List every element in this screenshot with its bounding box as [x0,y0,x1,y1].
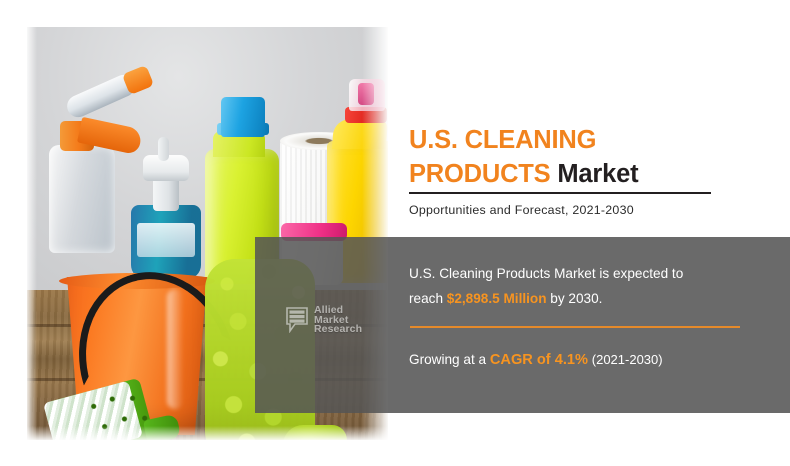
watermark-text: Allied Market Research [314,306,362,335]
watermark-line-3: Research [314,325,362,335]
market-value-suffix: by 2030. [547,291,603,306]
blue-pump-bottle-stem [158,137,169,161]
title-divider [409,192,711,194]
market-value-statement: U.S. Cleaning Products Market is expecte… [409,261,721,311]
subtitle: Opportunities and Forecast, 2021-2030 [409,203,634,217]
cagr-figure: CAGR of 4.1% [490,352,588,368]
headline-line1: U.S. CLEANING [409,126,596,154]
blue-pump-bottle-neck [153,177,179,211]
market-value-figure: $2,898.5 Million [447,291,547,306]
stats-divider [410,326,740,328]
orange-bucket-highlight [167,289,183,409]
page-title: U.S. CLEANING PRODUCTS Market [409,123,759,191]
cagr-prefix: Growing at a [409,352,490,367]
allied-market-research-watermark: Allied Market Research [286,306,362,335]
detergent-jug-blue-cap [221,97,265,137]
cagr-years: (2021-2030) [592,352,663,367]
blue-pump-bottle-label [137,223,195,257]
cagr-statement: Growing at a CAGR of 4.1% (2021-2030) [409,352,663,368]
headline-line2-highlight: PRODUCTS [409,160,551,188]
infographic-banner: U.S. CLEANING PRODUCTS Market Opportunit… [0,0,790,466]
trigger-spray-bottle-body [49,145,115,253]
photo-left-fade [27,27,37,440]
headline-line2-suffix: Market [557,160,638,188]
photo-bottom-fade [27,426,388,440]
speech-bubble-icon [286,307,310,333]
